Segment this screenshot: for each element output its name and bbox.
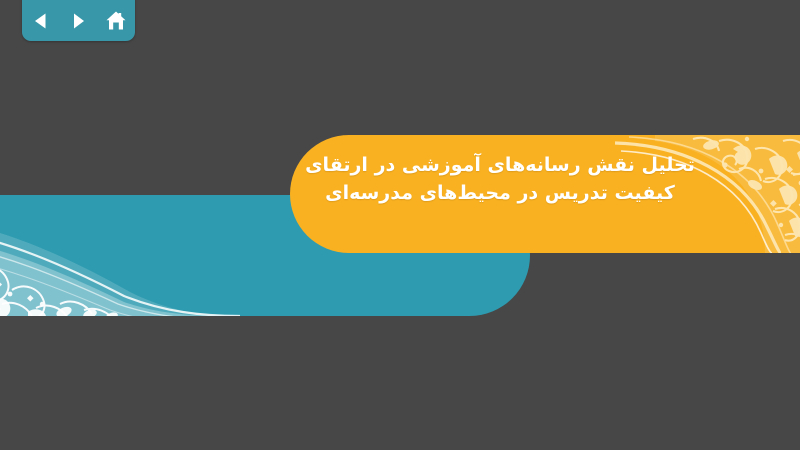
slide-title-line-2: کیفیت تدریس در محیط‌های مدرسه‌ای [300,180,700,208]
slide-title-line-1: تحلیل نقش رسانه‌های آموزشی در ارتقای [300,152,700,180]
slide-navigation-bar [22,0,135,41]
home-icon [105,10,127,32]
home-button[interactable] [103,8,129,34]
triangle-left-icon [31,11,51,31]
slide-title: تحلیل نقش رسانه‌های آموزشی در ارتقای کیف… [300,152,700,207]
next-slide-button[interactable] [65,8,91,34]
triangle-right-icon [68,11,88,31]
previous-slide-button[interactable] [28,8,54,34]
arabesque-islimi-ornament-teal [0,195,240,316]
presentation-slide: تحلیل نقش رسانه‌های آموزشی در ارتقای کیف… [0,0,800,450]
